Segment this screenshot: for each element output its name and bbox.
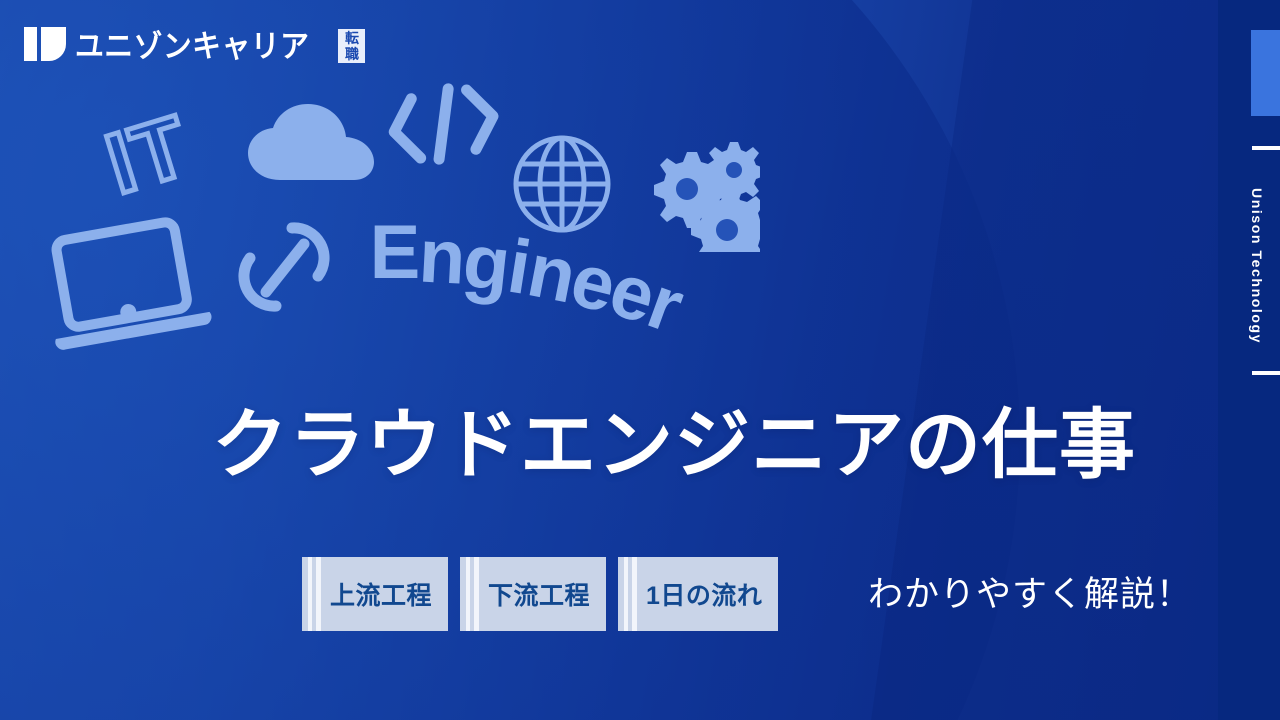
- code-brackets-icon: [380, 73, 508, 179]
- tag-item-daily-flow[interactable]: 1日の流れ: [618, 557, 778, 631]
- cloud-icon: [246, 104, 376, 187]
- accent-block: [1251, 30, 1280, 116]
- tag-list: 上流工程 下流工程 1日の流れ: [302, 557, 778, 631]
- tag-item-upstream[interactable]: 上流工程: [302, 557, 448, 631]
- globe-icon: [512, 134, 612, 239]
- rail-brand-label: Unison Technology: [1246, 168, 1268, 364]
- hero-subcaption: わかりやすく解説！: [868, 566, 1192, 617]
- brand-logo[interactable]: ユニゾンキャリア 転 職: [24, 24, 365, 68]
- rail-tick-bottom: [1252, 371, 1280, 375]
- tag-label: 下流工程: [488, 576, 590, 612]
- tag-label: 1日の流れ: [646, 576, 762, 612]
- unison-square-mark-icon: [24, 27, 66, 66]
- page-title: クラウドエンジニアの仕事: [212, 406, 1136, 486]
- tag-label: 上流工程: [330, 576, 432, 612]
- laptop-icon: [36, 209, 216, 366]
- brand-logo-badge: 転 職: [338, 29, 365, 63]
- decor-word-it: IT: [97, 102, 199, 208]
- tag-item-downstream[interactable]: 下流工程: [460, 557, 606, 631]
- rail-tick-top: [1252, 146, 1280, 150]
- brand-logo-text: ユニゾンキャリア: [75, 31, 309, 62]
- link-chain-icon: [232, 210, 336, 329]
- badge-char-1: 転: [338, 30, 365, 46]
- badge-char-2: 職: [338, 46, 365, 62]
- gears-icon: [640, 140, 760, 257]
- hero-banner: ユニゾンキャリア 転 職: [0, 0, 1280, 720]
